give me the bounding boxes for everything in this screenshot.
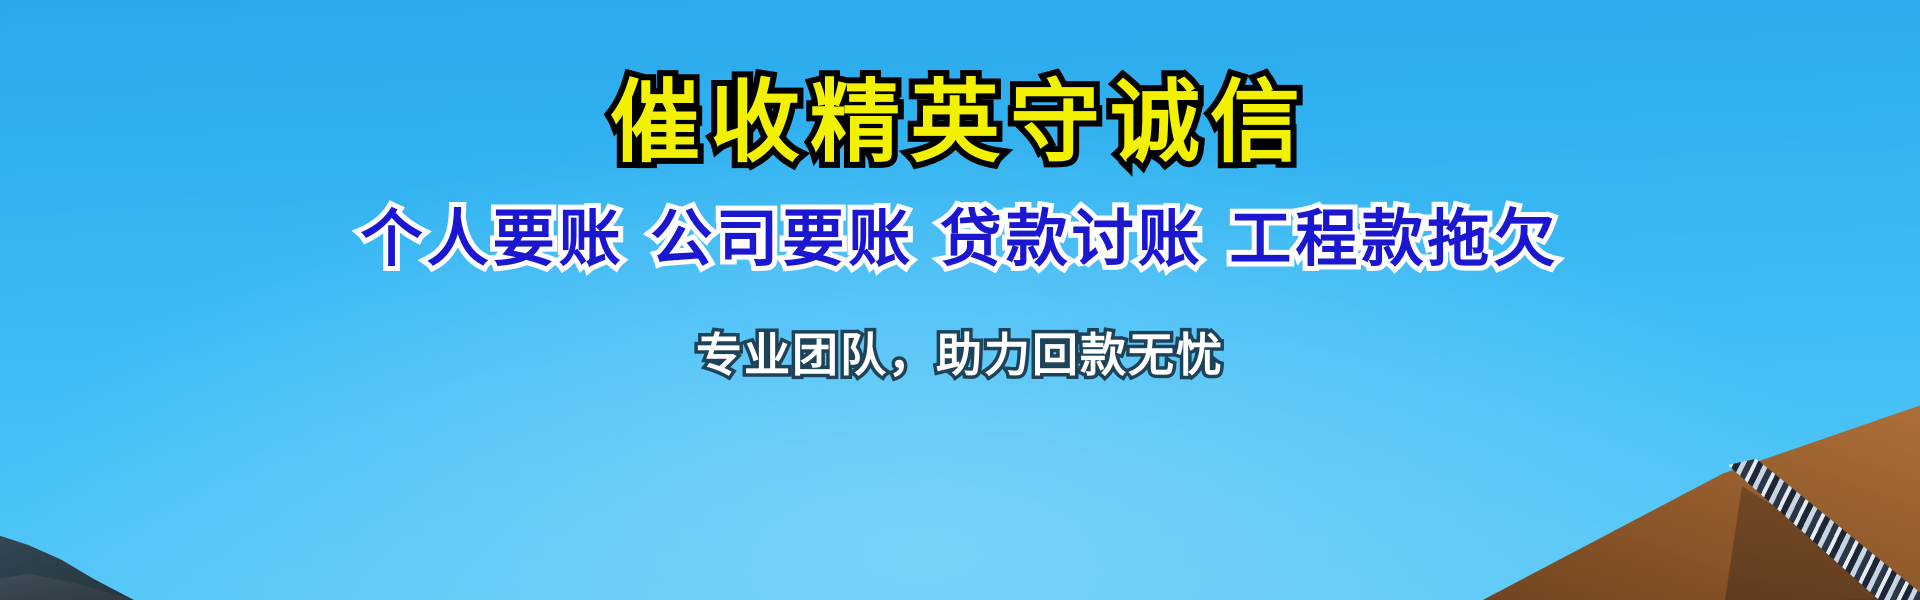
banner-tagline: 专业团队，助力回款无忧 (696, 332, 1224, 378)
banner-service-list: 个人要账 公司要账 贷款讨账 工程款拖欠 (361, 208, 1560, 270)
banner-headline: 催收精英守诚信 (610, 78, 1310, 168)
banner-content: 催收精英守诚信 个人要账 公司要账 贷款讨账 工程款拖欠 专业团队，助力回款无忧 (0, 0, 1920, 600)
promo-banner: 催收精英守诚信 个人要账 公司要账 贷款讨账 工程款拖欠 专业团队，助力回款无忧 (0, 0, 1920, 600)
